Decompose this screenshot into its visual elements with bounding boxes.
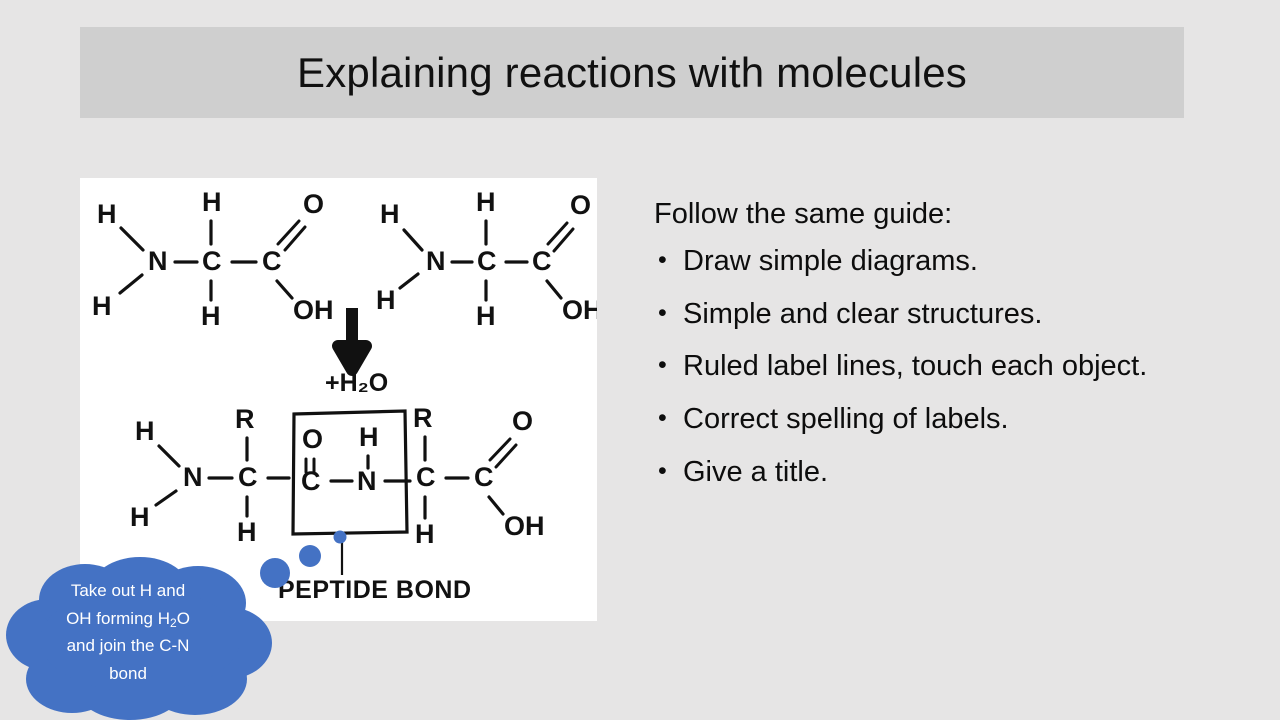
- slide-canvas: Explaining reactions with molecules .ink…: [0, 0, 1280, 720]
- atom-label-c: C: [477, 246, 497, 276]
- atom-label-oh: OH: [562, 295, 597, 325]
- down-arrow-icon: [338, 308, 366, 370]
- bullet-list: Draw simple diagrams. Simple and clear s…: [654, 243, 1154, 491]
- cloud-lobes: [6, 557, 272, 720]
- atom-label-c: C: [416, 462, 436, 492]
- atom-label-h: H: [130, 502, 150, 532]
- atom-label-r: R: [235, 404, 255, 434]
- atom-label-c: C: [262, 246, 282, 276]
- bond-c-oh: [547, 281, 561, 298]
- bullets-lead-text: Follow the same guide:: [654, 196, 1154, 233]
- bond-c-o-double-b: [496, 445, 516, 467]
- bond-c-o-double-a: [278, 221, 299, 244]
- page-title: Explaining reactions with molecules: [80, 49, 1184, 95]
- title-bar: Explaining reactions with molecules: [80, 27, 1184, 118]
- atom-label-h: H: [202, 187, 222, 217]
- molecule-amino-acid-1: H N H C H H C O OH: [92, 187, 334, 331]
- atom-label-n: N: [148, 246, 168, 276]
- atom-label-c: C: [301, 466, 321, 496]
- guide-bullets-panel: Follow the same guide: Draw simple diagr…: [654, 196, 1154, 507]
- bond-n-h-top: [404, 230, 422, 250]
- bond-c-o-double-b: [285, 227, 305, 250]
- thought-cloud-shape: [0, 555, 300, 720]
- atom-label-h: H: [376, 285, 396, 315]
- atom-label-o: O: [302, 424, 323, 454]
- bond-n-h-top: [121, 228, 143, 250]
- reaction-arrow: [338, 308, 366, 370]
- atom-label-o: O: [570, 190, 591, 220]
- atom-label-h: H: [201, 301, 221, 331]
- atom-label-h: H: [97, 199, 117, 229]
- atom-label-h: H: [415, 519, 435, 549]
- atom-label-c: C: [532, 246, 552, 276]
- atom-label-h: H: [476, 301, 496, 331]
- bond-c-oh: [489, 497, 503, 514]
- atom-label-oh: OH: [504, 511, 545, 541]
- atom-label-n: N: [426, 246, 446, 276]
- peptide-bond-label: PEPTIDE BOND: [278, 576, 472, 604]
- atom-label-n: N: [357, 466, 377, 496]
- atom-label-h: H: [476, 187, 496, 217]
- bond-n-h-bottom: [400, 274, 418, 288]
- atom-label-h: H: [237, 517, 257, 547]
- atom-label-c: C: [238, 462, 258, 492]
- atom-label-n: N: [183, 462, 203, 492]
- bullet-item-give-title: Give a title.: [654, 454, 1154, 492]
- bond-n-h-bottom: [156, 491, 176, 505]
- thought-cloud-callout: Take out H and OH forming H2O and join t…: [0, 555, 300, 720]
- atom-label-r: R: [413, 403, 433, 433]
- bullet-item-correct-spelling: Correct spelling of labels.: [654, 401, 1154, 439]
- atom-label-o: O: [512, 406, 533, 436]
- atom-label-c: C: [202, 246, 222, 276]
- reaction-water-label: +H₂O: [325, 369, 388, 397]
- molecule-dipeptide: H N H C R H O C: [130, 403, 545, 549]
- bullet-item-ruled-label-lines: Ruled label lines, touch each object.: [654, 348, 1154, 386]
- atom-label-oh: OH: [293, 295, 334, 325]
- bond-n-h-bottom: [120, 275, 142, 293]
- bullet-item-draw-diagrams: Draw simple diagrams.: [654, 243, 1154, 281]
- atom-label-h: H: [135, 416, 155, 446]
- molecule-amino-acid-2: H N H C H H C O OH: [376, 187, 597, 331]
- atom-label-o: O: [303, 189, 324, 219]
- atom-label-h: H: [380, 199, 400, 229]
- atom-label-h: H: [359, 422, 379, 452]
- bond-n-h-top: [159, 446, 179, 466]
- atom-label-c: C: [474, 462, 494, 492]
- bond-c-oh: [277, 281, 292, 298]
- atom-label-h: H: [92, 291, 112, 321]
- bullet-item-clear-structures: Simple and clear structures.: [654, 296, 1154, 334]
